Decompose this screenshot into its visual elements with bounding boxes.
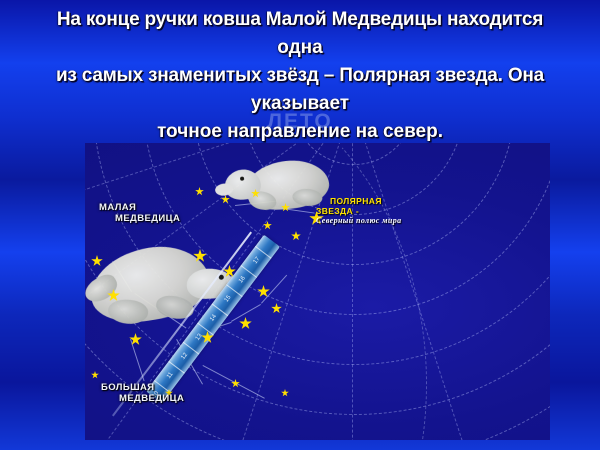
ursa-minor-label: МАЛАЯ МЕДВЕДИЦА (99, 203, 180, 224)
headline-line-4: указывает (0, 90, 600, 118)
headline-text: На конце ручки ковша Малой Медведицы нах… (0, 0, 600, 146)
polaris-label-line2: ЗВЕЗДА - (316, 207, 402, 217)
polaris-label: ПОЛЯРНАЯ ЗВЕЗДА - Северный полюс мира (316, 197, 402, 226)
polaris-subtitle: Северный полюс мира (316, 217, 402, 226)
ruler-label: 12 (178, 348, 192, 364)
ruler-label: 17 (250, 253, 264, 269)
headline-line-1: На конце ручки ковша Малой Медведицы нах… (0, 6, 600, 34)
ruler-label: 16 (235, 272, 249, 288)
ursa-minor-label-line1: МАЛАЯ (99, 202, 136, 213)
slide: 17 16 15 14 13 12 11 10 (0, 0, 600, 450)
headline-line-5: точное направление на север. (0, 118, 600, 146)
ursa-major-label-line1: БОЛЬШАЯ (101, 382, 155, 393)
ursa-major-label: БОЛЬШАЯ МЕДВЕДИЦА (101, 383, 184, 404)
headline-line-3: из самых знаменитых звёзд – Полярная зве… (0, 62, 600, 90)
headline-line-2: одна (0, 34, 600, 62)
ursa-minor-label-line2: МЕДВЕДИЦА (99, 214, 180, 225)
ruler-label: 11 (163, 368, 177, 384)
ruler-label: 14 (206, 310, 220, 326)
star-map-image: 17 16 15 14 13 12 11 10 (85, 143, 550, 440)
ruler-label: 15 (221, 291, 235, 307)
ursa-major-label-line2: МЕДВЕДИЦА (101, 394, 184, 405)
